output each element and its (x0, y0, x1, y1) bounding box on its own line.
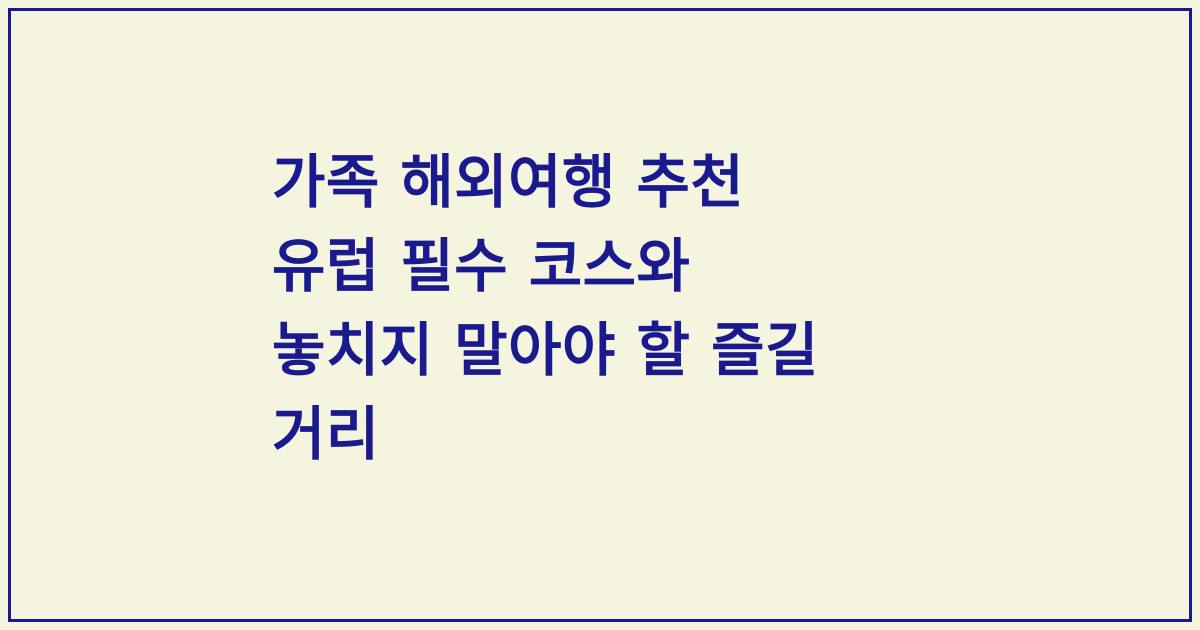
thumbnail-card: 가족 해외여행 추천 유럽 필수 코스와 놓치지 말아야 할 즐길 거리 (0, 0, 1200, 630)
page-title: 가족 해외여행 추천 유럽 필수 코스와 놓치지 말아야 할 즐길 거리 (272, 140, 1032, 476)
